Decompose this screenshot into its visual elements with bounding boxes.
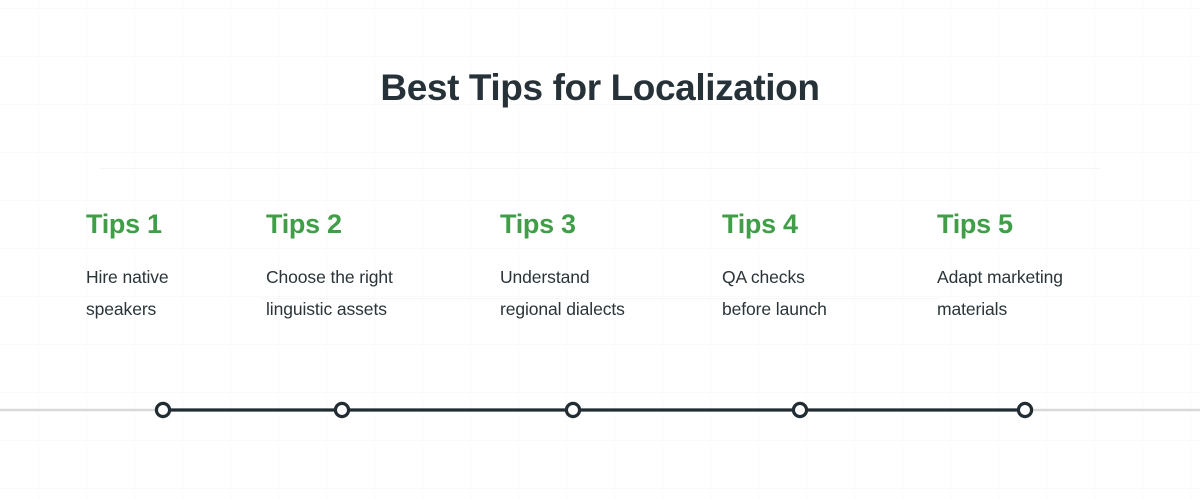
timeline-node-5[interactable]	[1018, 403, 1031, 416]
page-title: Best Tips for Localization	[0, 68, 1200, 109]
tip-description-3: Understandregional dialects	[500, 262, 625, 324]
tip-column-1: Tips 1Hire nativespeakers	[86, 208, 169, 325]
timeline-node-3[interactable]	[566, 403, 579, 416]
tip-column-4: Tips 4QA checksbefore launch	[722, 208, 827, 325]
timeline-node-1[interactable]	[156, 403, 169, 416]
tip-description-5: Adapt marketingmaterials	[937, 262, 1063, 324]
tip-description-line-2: regional dialects	[500, 294, 625, 325]
tip-description-line-1: Choose the right	[266, 262, 393, 293]
tip-heading-5: Tips 5	[937, 208, 1063, 240]
tips-row: Tips 1Hire nativespeakersTips 2Choose th…	[0, 208, 1200, 328]
timeline-node-4[interactable]	[793, 403, 806, 416]
tip-description-line-1: QA checks	[722, 262, 827, 293]
tip-column-3: Tips 3Understandregional dialects	[500, 208, 625, 325]
tip-description-line-2: before launch	[722, 294, 827, 325]
tip-column-5: Tips 5Adapt marketingmaterials	[937, 208, 1063, 325]
tip-column-2: Tips 2Choose the rightlinguistic assets	[266, 208, 393, 325]
tip-heading-1: Tips 1	[86, 208, 169, 240]
tip-description-line-2: speakers	[86, 294, 169, 325]
timeline-node-2[interactable]	[335, 403, 348, 416]
tip-description-line-1: Adapt marketing	[937, 262, 1063, 293]
tip-heading-3: Tips 3	[500, 208, 625, 240]
tip-description-line-2: linguistic assets	[266, 294, 393, 325]
tip-heading-4: Tips 4	[722, 208, 827, 240]
tip-description-line-1: Understand	[500, 262, 625, 293]
tip-description-4: QA checksbefore launch	[722, 262, 827, 324]
tip-description-2: Choose the rightlinguistic assets	[266, 262, 393, 324]
tip-heading-2: Tips 2	[266, 208, 393, 240]
tip-description-line-2: materials	[937, 294, 1063, 325]
tip-description-line-1: Hire native	[86, 262, 169, 293]
tip-description-1: Hire nativespeakers	[86, 262, 169, 324]
background-grid-line-horizontal	[100, 168, 1100, 169]
